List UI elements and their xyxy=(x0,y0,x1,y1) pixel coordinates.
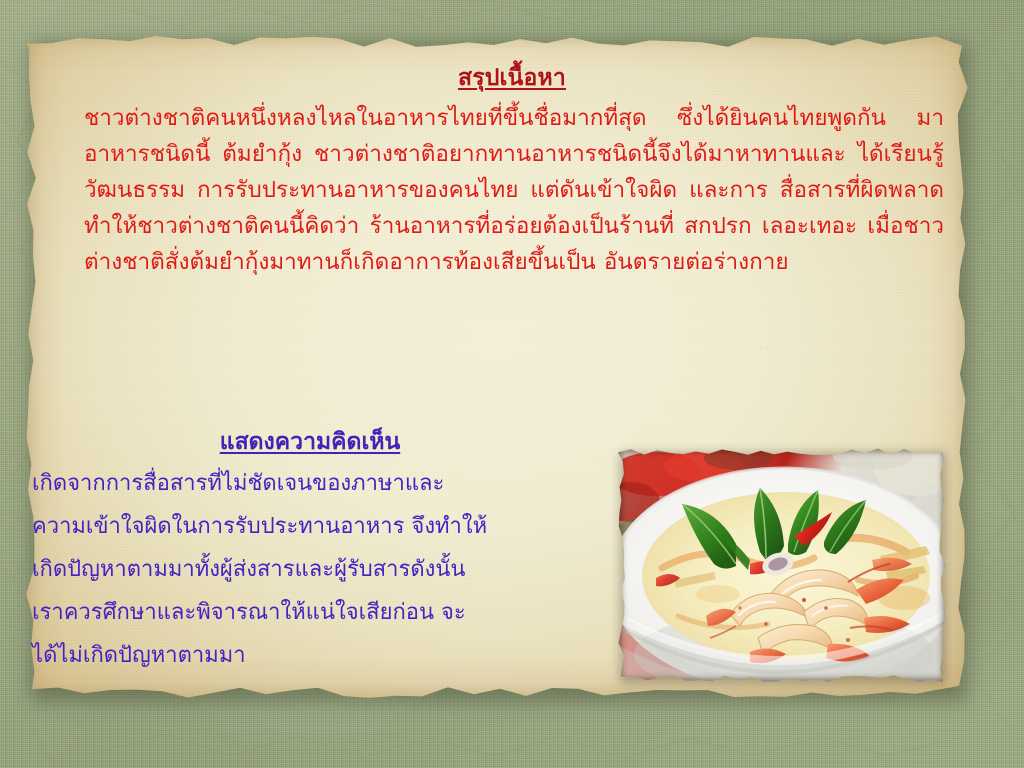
opinion-paragraph: เกิดจากการสื่อสารที่ไม่ชัดเจนของภาษาและ … xyxy=(32,462,590,677)
opinion-line: ความเข้าใจผิดในการรับประทานอาหาร จึงทำให… xyxy=(32,505,590,548)
opinion-heading: แสดงความคิดเห็น xyxy=(30,424,590,460)
tom-yum-kung-photo xyxy=(618,448,946,682)
slide-content: สรุปเนื้อหา ชาวต่างชาติคนหนึ่งหลงไหลในอา… xyxy=(0,0,1024,768)
presentation-slide: สรุปเนื้อหา ชาวต่างชาติคนหนึ่งหลงไหลในอา… xyxy=(0,0,1024,768)
opinion-line: เกิดปัญหาตามมาทั้งผู้ส่งสารและผู้รับสารด… xyxy=(32,548,590,591)
summary-line: ชาวต่างชาติคนหนึ่งหลงไหลในอาหารไทยที่ขึ้… xyxy=(84,105,886,131)
opinion-line: ได้ไม่เกิดปัญหาตามมา xyxy=(32,634,590,677)
tom-yum-kung-photo-frame xyxy=(618,448,946,682)
opinion-line: เกิดจากการสื่อสารที่ไม่ชัดเจนของภาษาและ xyxy=(32,462,590,505)
summary-line: อันตรายต่อร่างกาย xyxy=(604,249,789,275)
summary-paragraph: ชาวต่างชาติคนหนึ่งหลงไหลในอาหารไทยที่ขึ้… xyxy=(84,100,944,280)
opinion-line: เราควรศึกษาและพิจารณาให้แน่ใจเสียก่อน จะ xyxy=(32,591,590,634)
summary-heading: สรุปเนื้อหา xyxy=(0,60,1024,96)
